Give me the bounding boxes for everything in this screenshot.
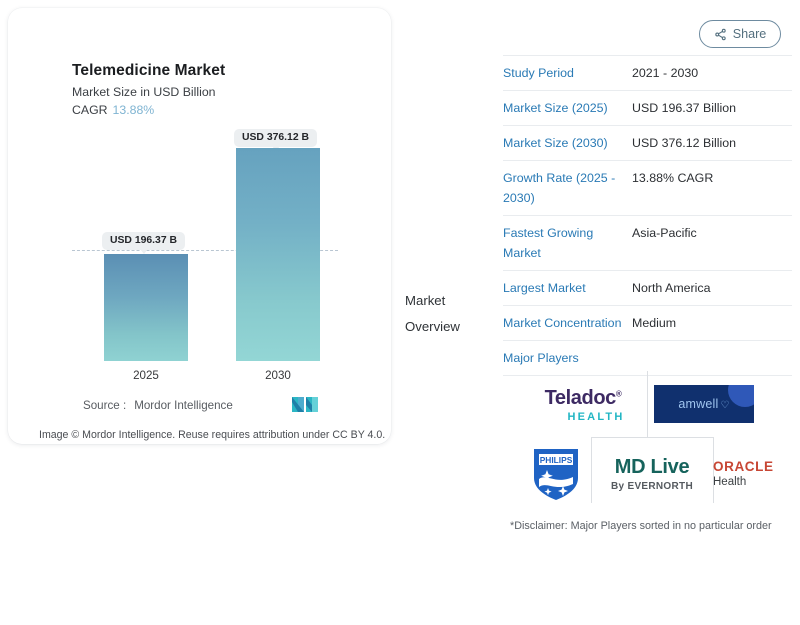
bar-category-label-2030: 2030 — [236, 369, 320, 382]
market-overview-line1: Market — [405, 288, 485, 314]
bar-2030[interactable] — [236, 148, 320, 361]
source-name: Mordor Intelligence — [134, 399, 233, 412]
bar-2025[interactable] — [104, 254, 188, 361]
table-row-key: Fastest Growing Market — [503, 223, 632, 263]
grid-divider-vertical — [647, 371, 648, 437]
attribution-text: Image © Mordor Intelligence. Reuse requi… — [39, 429, 385, 441]
philips-shield-icon: PHILIPS — [530, 446, 582, 502]
bar-value-badge-2030: USD 376.12 B — [234, 129, 317, 147]
share-nodes-icon — [714, 28, 727, 41]
share-button-label: Share — [733, 27, 767, 41]
registered-mark-icon: ® — [616, 389, 622, 398]
table-row: Fastest Growing Market Asia-Pacific — [503, 216, 792, 271]
oracle-wordmark: ORACLE — [713, 459, 774, 474]
teladoc-sub: HEALTH — [568, 411, 625, 423]
table-row: Market Concentration Medium — [503, 306, 792, 341]
teladoc-wordmark: Teladoc® — [545, 387, 622, 410]
amwell-name: amwell — [678, 397, 718, 411]
source-label: Source : — [83, 399, 126, 412]
logo-amwell[interactable]: amwell♡ — [654, 385, 754, 423]
mdlive-sub: By EVERNORTH — [611, 481, 693, 492]
table-row-key: Market Size (2030) — [503, 133, 632, 153]
amwell-box: amwell♡ — [654, 385, 754, 423]
amwell-wordmark: amwell♡ — [678, 397, 729, 411]
table-row-key: Market Size (2025) — [503, 98, 632, 118]
market-overview-table: Study Period 2021 - 2030 Market Size (20… — [503, 55, 792, 376]
table-row-key: Market Concentration — [503, 313, 632, 333]
amwell-heart-icon: ♡ — [720, 400, 729, 411]
market-overview-label: Market Overview — [405, 288, 485, 340]
table-row-value: USD 196.37 Billion — [632, 98, 792, 118]
mordor-intelligence-logo-icon — [291, 396, 319, 413]
oracle-sub: Health — [713, 476, 746, 488]
table-row-value: Medium — [632, 313, 792, 333]
amwell-circle-accent — [728, 385, 754, 407]
bar-chart-plot: USD 376.12 B 2030 USD 196.37 B 2025 — [8, 8, 391, 444]
svg-text:PHILIPS: PHILIPS — [540, 455, 573, 465]
table-row: Largest Market North America — [503, 271, 792, 306]
table-row: Growth Rate (2025 - 2030) 13.88% CAGR — [503, 161, 792, 216]
logo-oracle-health[interactable]: ORACLE Health — [713, 449, 791, 497]
table-row-key: Largest Market — [503, 278, 632, 298]
major-players-disclaimer: *Disclaimer: Major Players sorted in no … — [510, 520, 772, 532]
teladoc-name: Teladoc — [545, 387, 616, 409]
logo-teladoc[interactable]: Teladoc® HEALTH — [523, 379, 643, 431]
table-row: Market Size (2025) USD 196.37 Billion — [503, 91, 792, 126]
logo-philips[interactable]: PHILIPS — [527, 445, 585, 503]
table-row-value: 13.88% CAGR — [632, 168, 792, 188]
table-row-value: 2021 - 2030 — [632, 63, 792, 83]
chart-source: Source :Mordor Intelligence — [83, 399, 233, 412]
grid-divider-vertical — [591, 437, 592, 503]
bar-category-label-2025: 2025 — [104, 369, 188, 382]
market-overview-line2: Overview — [405, 314, 485, 340]
table-row-key: Study Period — [503, 63, 632, 83]
mdlive-wordmark: MD Live — [615, 456, 690, 479]
table-row-value: Asia-Pacific — [632, 223, 792, 243]
table-row-key: Growth Rate (2025 - 2030) — [503, 168, 632, 208]
screenshot-root: Telemedicine Market Market Size in USD B… — [0, 0, 800, 625]
grid-divider-horizontal — [591, 437, 713, 438]
logo-mdlive[interactable]: MD Live By EVERNORTH — [600, 447, 704, 501]
table-row: Market Size (2030) USD 376.12 Billion — [503, 126, 792, 161]
table-row-value: North America — [632, 278, 792, 298]
table-row-value: USD 376.12 Billion — [632, 133, 792, 153]
bar-value-badge-2025: USD 196.37 B — [102, 232, 185, 250]
major-players-logo-grid: Teladoc® HEALTH amwell♡ PHILIPS MD Live — [517, 371, 792, 506]
share-button[interactable]: Share — [699, 20, 781, 48]
chart-card: Telemedicine Market Market Size in USD B… — [8, 8, 391, 444]
table-row: Study Period 2021 - 2030 — [503, 55, 792, 91]
table-row-key: Major Players — [503, 348, 632, 368]
